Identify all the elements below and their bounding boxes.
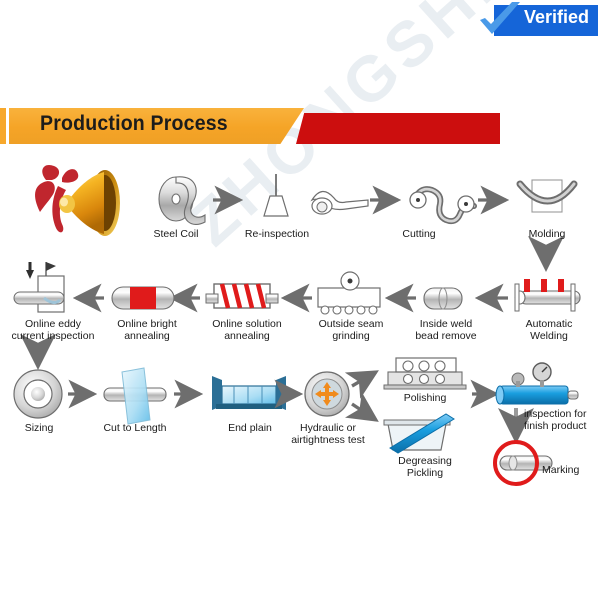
- sizing-roll-icon: [14, 370, 62, 418]
- label-end-plain: End plain: [212, 422, 288, 434]
- cut-to-length-icon: [104, 368, 166, 424]
- label-automatic-welding: Automatic Welding: [512, 318, 586, 342]
- label-cutting: Cutting: [384, 228, 454, 240]
- banner-left-sliver: [0, 108, 6, 144]
- label-polishing: Polishing: [390, 392, 460, 404]
- arrow-hydraulic-degreasing: [352, 404, 376, 420]
- bead-remove-icon: [424, 288, 462, 309]
- finish-inspection-icon: [496, 363, 578, 404]
- megaphone-icon: [35, 165, 120, 236]
- marking-icon: [495, 442, 552, 484]
- process-flow-diagram: [0, 0, 600, 600]
- label-molding: Molding: [512, 228, 582, 240]
- eddy-current-icon: [14, 262, 64, 312]
- welding-torch-icon: [515, 279, 580, 311]
- label-bright-annealing: Online bright annealing: [106, 318, 188, 342]
- label-hydraulic-test: Hydraulic or airtightness test: [286, 422, 370, 446]
- label-sizing: Sizing: [8, 422, 70, 434]
- label-inside-weld: Inside weld bead remove: [406, 318, 486, 342]
- header-banner: Production Process: [0, 108, 600, 144]
- steel-coil-icon: [159, 177, 205, 225]
- slitting-cutter-icon: [312, 191, 368, 214]
- forming-roll-icon: [410, 189, 474, 221]
- arrow-hydraulic-polishing: [352, 372, 376, 386]
- verified-label: Verified: [524, 7, 589, 28]
- page-title: Production Process: [40, 112, 228, 136]
- seam-grinder-icon: [318, 272, 380, 314]
- polishing-machine-icon: [384, 358, 466, 389]
- label-steel-coil: Steel Coil: [140, 228, 212, 240]
- bright-anneal-icon: [112, 287, 174, 309]
- label-cut-to-length: Cut to Length: [92, 422, 178, 434]
- label-final-inspection: inspection for finish product: [524, 408, 600, 432]
- label-re-inspection: Re-inspection: [240, 228, 314, 240]
- pressure-test-icon: [305, 372, 349, 416]
- pickling-tank-icon: [384, 414, 454, 453]
- label-eddy-current: Online eddy current inspection: [4, 318, 102, 342]
- label-degreasing-pickling: Degreasing Pickling: [388, 455, 462, 479]
- banner-red-shape: [296, 113, 500, 144]
- end-plain-icon: [212, 376, 286, 410]
- induction-coil-icon: [206, 284, 278, 308]
- inspection-probe-icon: [264, 174, 288, 216]
- label-outside-seam: Outside seam grinding: [310, 318, 392, 342]
- label-marking: Marking: [542, 464, 598, 476]
- label-solution-annealing: Online solution annealing: [204, 318, 290, 342]
- production-process-image: ZHONGSHENG Production Process Verified: [0, 0, 600, 600]
- verified-check-icon: [478, 0, 522, 38]
- molding-u-icon: [520, 180, 574, 212]
